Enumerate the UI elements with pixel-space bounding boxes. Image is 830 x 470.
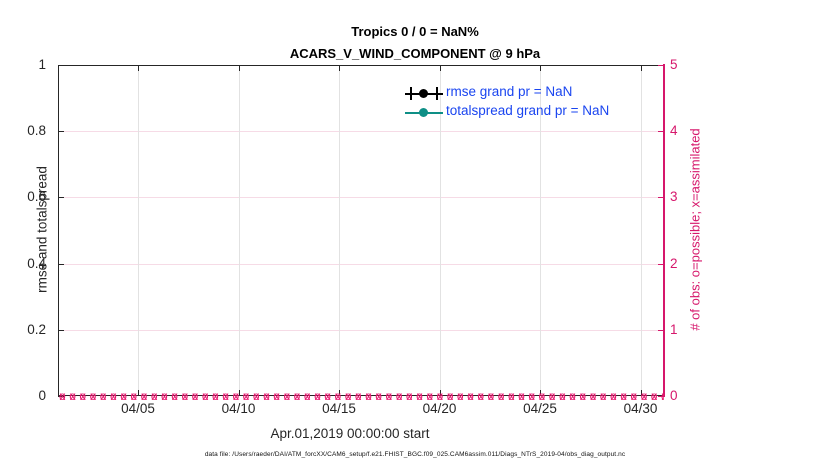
right-axis-tick xyxy=(658,330,664,331)
obs-assimilated-marker: x xyxy=(417,388,423,404)
legend-item[interactable]: totalspread grand pr = NaN xyxy=(405,103,655,122)
obs-assimilated-marker: x xyxy=(172,388,178,404)
left-axis-tick xyxy=(58,65,64,66)
obs-assimilated-marker: x xyxy=(355,388,361,404)
obs-assimilated-marker: x xyxy=(651,388,657,404)
right-axis-tick xyxy=(658,197,664,198)
obs-assimilated-marker: x xyxy=(162,388,168,404)
obs-assimilated-marker: x xyxy=(539,388,545,404)
obs-assimilated-marker: x xyxy=(662,388,665,404)
right-axis-tick-label: 2 xyxy=(670,257,678,270)
obs-assimilated-marker: x xyxy=(508,388,514,404)
obs-assimilated-marker: x xyxy=(570,388,576,404)
x-axis-label: Apr.01,2019 00:00:00 start xyxy=(0,426,700,441)
left-axis-tick xyxy=(58,264,64,265)
chart-title-line-1: Tropics 0 / 0 = NaN% xyxy=(0,24,830,39)
observation-count-markers: oxoxoxoxoxoxoxoxoxoxoxoxoxoxoxoxoxoxoxox… xyxy=(58,388,664,404)
obs-assimilated-marker: x xyxy=(274,388,280,404)
left-axis-tick xyxy=(58,131,64,132)
obs-assimilated-marker: x xyxy=(294,388,300,404)
right-axis-tick-label: 3 xyxy=(670,190,678,203)
x-axis-tick-top xyxy=(138,65,139,71)
x-axis-tick-top xyxy=(440,65,441,71)
obs-assimilated-marker: x xyxy=(590,388,596,404)
obs-assimilated-marker: x xyxy=(457,388,463,404)
left-axis-tick xyxy=(58,330,64,331)
obs-assimilated-marker: x xyxy=(264,388,270,404)
obs-assimilated-marker: x xyxy=(70,388,76,404)
obs-assimilated-marker: x xyxy=(376,388,382,404)
obs-assimilated-marker: x xyxy=(519,388,525,404)
right-axis-tick-label: 1 xyxy=(670,323,678,336)
obs-assimilated-marker: x xyxy=(304,388,310,404)
obs-assimilated-marker: x xyxy=(325,388,331,404)
obs-assimilated-marker: x xyxy=(213,388,219,404)
right-axis-tick xyxy=(658,65,664,66)
obs-assimilated-marker: x xyxy=(621,388,627,404)
obs-assimilated-marker: x xyxy=(315,388,321,404)
obs-assimilated-marker: x xyxy=(182,388,188,404)
obs-assimilated-marker: x xyxy=(366,388,372,404)
obs-assimilated-marker: x xyxy=(90,388,96,404)
obs-assimilated-marker: x xyxy=(141,388,147,404)
obs-assimilated-marker: x xyxy=(243,388,249,404)
legend-marker-icon xyxy=(419,108,428,117)
obs-assimilated-marker: x xyxy=(488,388,494,404)
obs-assimilated-marker: x xyxy=(223,388,229,404)
legend-item-label: rmse grand pr = NaN xyxy=(446,84,572,99)
obs-assimilated-marker: x xyxy=(610,388,616,404)
obs-assimilated-marker: x xyxy=(253,388,259,404)
right-axis-label: # of obs: o=possible; x=assimilated xyxy=(688,110,703,350)
obs-assimilated-marker: x xyxy=(335,388,341,404)
legend-errorbar-cap xyxy=(410,87,412,100)
x-axis-tick-top xyxy=(339,65,340,71)
chart-title-line-2: ACARS_V_WIND_COMPONENT @ 9 hPa xyxy=(0,46,830,61)
left-axis-label: rmse and totalspread xyxy=(35,110,50,350)
obs-assimilated-marker: x xyxy=(580,388,586,404)
legend: rmse grand pr = NaNtotalspread grand pr … xyxy=(405,84,655,122)
right-axis-tick-label: 4 xyxy=(670,124,678,137)
obs-assimilated-marker: x xyxy=(233,388,239,404)
legend-errorbar-cap xyxy=(436,87,438,100)
data-file-footer: data file: /Users/raeder/DAI/ATM_forcXX/… xyxy=(0,451,830,458)
obs-assimilated-marker: x xyxy=(427,388,433,404)
right-axis-tick xyxy=(658,131,664,132)
obs-assimilated-marker: x xyxy=(192,388,198,404)
right-axis-tick-label: 5 xyxy=(670,58,678,71)
obs-assimilated-marker: x xyxy=(345,388,351,404)
legend-item[interactable]: rmse grand pr = NaN xyxy=(405,84,655,103)
obs-assimilated-marker: x xyxy=(529,388,535,404)
obs-assimilated-marker: x xyxy=(284,388,290,404)
x-axis-tick-top xyxy=(540,65,541,71)
obs-assimilated-marker: x xyxy=(437,388,443,404)
obs-assimilated-marker: x xyxy=(80,388,86,404)
right-axis-tick xyxy=(658,264,664,265)
obs-assimilated-marker: x xyxy=(121,388,127,404)
legend-item-label: totalspread grand pr = NaN xyxy=(446,103,609,118)
figure-canvas: Tropics 0 / 0 = NaN% ACARS_V_WIND_COMPON… xyxy=(0,0,830,470)
left-axis-tick-label: 0 xyxy=(38,389,46,402)
obs-assimilated-marker: x xyxy=(131,388,137,404)
obs-assimilated-marker: x xyxy=(631,388,637,404)
obs-assimilated-marker: x xyxy=(111,388,117,404)
obs-assimilated-marker: x xyxy=(396,388,402,404)
obs-assimilated-marker: x xyxy=(60,388,66,404)
obs-assimilated-marker: x xyxy=(447,388,453,404)
obs-assimilated-marker: x xyxy=(468,388,474,404)
obs-assimilated-marker: x xyxy=(386,388,392,404)
obs-assimilated-marker: x xyxy=(641,388,647,404)
left-axis-tick xyxy=(58,197,64,198)
obs-assimilated-marker: x xyxy=(406,388,412,404)
obs-assimilated-marker: x xyxy=(549,388,555,404)
obs-assimilated-marker: x xyxy=(600,388,606,404)
x-axis-tick-top xyxy=(641,65,642,71)
obs-assimilated-marker: x xyxy=(498,388,504,404)
obs-assimilated-marker: x xyxy=(151,388,157,404)
obs-assimilated-marker: x xyxy=(559,388,565,404)
obs-assimilated-marker: x xyxy=(478,388,484,404)
x-axis-tick-top xyxy=(239,65,240,71)
legend-marker-icon xyxy=(419,89,428,98)
left-axis-tick-label: 1 xyxy=(38,58,46,71)
obs-assimilated-marker: x xyxy=(100,388,106,404)
right-axis-line xyxy=(663,64,665,397)
obs-assimilated-marker: x xyxy=(202,388,208,404)
